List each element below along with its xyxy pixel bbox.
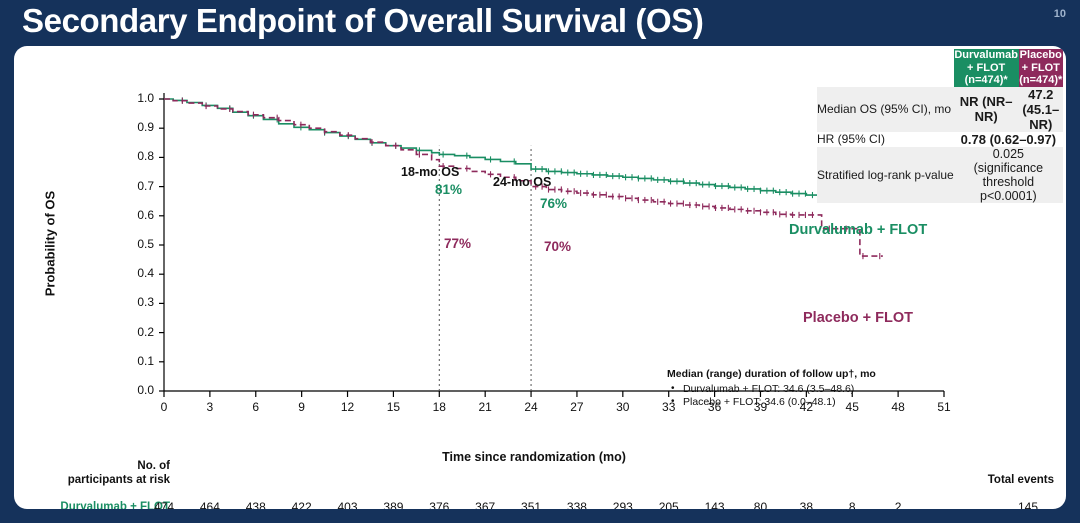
risk-count: 143	[695, 500, 735, 509]
list-item: Durvalumab + FLOT: 34.6 (3.5–48.6)	[681, 383, 1007, 397]
page-number: 10	[1054, 8, 1066, 20]
column-header-durvalumab: Durvalumab + FLOT (n=474)*	[954, 49, 1019, 87]
table-header-spacer	[817, 49, 954, 87]
risk-count: 438	[236, 500, 276, 509]
milestone-18mo-label: 18-mo OS	[401, 165, 459, 179]
risk-count: 293	[603, 500, 643, 509]
y-tick-label: 0.0	[120, 383, 154, 397]
y-tick-label: 0.2	[120, 325, 154, 339]
column-header-durvalumab-line1: Durvalumab + FLOT	[954, 49, 1018, 74]
risk-heading-line2: participants at risk	[68, 474, 170, 486]
x-tick-label: 24	[516, 400, 546, 414]
median-os-placebo: 47.2 (45.1–NR)	[1019, 87, 1063, 132]
table-header-row: Durvalumab + FLOT (n=474)* Placebo + FLO…	[817, 49, 1063, 87]
column-header-placebo-line1: Placebo + FLOT	[1020, 49, 1062, 74]
x-tick-label: 27	[562, 400, 592, 414]
y-tick-label: 0.4	[120, 266, 154, 280]
y-tick-label: 0.9	[120, 120, 154, 134]
y-tick-label: 0.5	[120, 237, 154, 251]
milestone-24mo-durvalumab-value: 76%	[540, 196, 567, 211]
x-tick-label: 39	[745, 400, 775, 414]
risk-count: 389	[373, 500, 413, 509]
y-axis-title: Probability of OS	[43, 164, 58, 324]
x-tick-label: 21	[470, 400, 500, 414]
y-tick-label: 0.1	[120, 354, 154, 368]
risk-count: 2	[878, 500, 918, 509]
risk-table-heading: No. of participants at risk	[22, 460, 170, 487]
slide-header: Secondary Endpoint of Overall Survival (…	[0, 0, 1080, 48]
content-card: Probability of OS Time since randomizati…	[14, 46, 1066, 509]
curve-label-durvalumab: Durvalumab + FLOT	[789, 222, 927, 238]
row-label-hr: HR (95% CI)	[817, 132, 954, 147]
hr-value: 0.78 (0.62–0.97)	[954, 132, 1063, 147]
milestone-24mo-placebo-value: 70%	[544, 239, 571, 254]
x-tick-label: 48	[883, 400, 913, 414]
curve-label-placebo: Placebo + FLOT	[803, 310, 913, 326]
x-tick-label: 30	[608, 400, 638, 414]
x-tick-label: 3	[195, 400, 225, 414]
table-row: Stratified log-rank p-value 0.025 (signi…	[817, 147, 1063, 203]
x-tick-label: 42	[791, 400, 821, 414]
column-header-durvalumab-line2: (n=474)*	[965, 74, 1008, 86]
followup-heading: Median (range) duration of follow up†, m…	[667, 368, 1007, 382]
logrank-threshold: (significance threshold p<0.0001)	[974, 161, 1043, 203]
risk-count: 80	[740, 500, 780, 509]
y-tick-label: 0.3	[120, 295, 154, 309]
y-tick-label: 1.0	[120, 91, 154, 105]
column-header-placebo: Placebo + FLOT (n=474)*	[1019, 49, 1063, 87]
x-tick-label: 45	[837, 400, 867, 414]
table-row: HR (95% CI) 0.78 (0.62–0.97)	[817, 132, 1063, 147]
os-results-table: Durvalumab + FLOT (n=474)* Placebo + FLO…	[817, 49, 1063, 203]
x-tick-label: 9	[287, 400, 317, 414]
logrank-pvalue: 0.025	[993, 147, 1024, 161]
risk-count: 367	[465, 500, 505, 509]
risk-count: 403	[328, 500, 368, 509]
risk-count: 351	[511, 500, 551, 509]
row-label-median-os: Median OS (95% CI), mo	[817, 87, 954, 132]
column-header-placebo-line2: (n=474)*	[1019, 74, 1062, 86]
x-tick-label: 0	[149, 400, 179, 414]
row-label-logrank: Stratified log-rank p-value	[817, 147, 954, 203]
x-tick-label: 12	[333, 400, 363, 414]
risk-count: 474	[144, 500, 184, 509]
x-tick-label: 15	[378, 400, 408, 414]
milestone-24mo-label: 24-mo OS	[493, 175, 551, 189]
risk-count: 376	[419, 500, 459, 509]
total-events-header: Total events	[988, 474, 1054, 486]
x-tick-label: 6	[241, 400, 271, 414]
risk-heading-line1: No. of	[137, 460, 170, 472]
participants-at-risk-table: No. of participants at risk Durvalumab +…	[14, 460, 1066, 509]
x-tick-label: 33	[654, 400, 684, 414]
milestone-18mo-placebo-value: 77%	[444, 236, 471, 251]
risk-count: 38	[786, 500, 826, 509]
page-title: Secondary Endpoint of Overall Survival (…	[22, 2, 703, 40]
logrank-value: 0.025 (significance threshold p<0.0001)	[954, 147, 1063, 203]
risk-count: 422	[282, 500, 322, 509]
x-tick-label: 51	[929, 400, 959, 414]
risk-count: 8	[832, 500, 872, 509]
risk-count: 338	[557, 500, 597, 509]
total-events-durvalumab: 145	[1008, 500, 1048, 509]
x-tick-label: 18	[424, 400, 454, 414]
table-row: Median OS (95% CI), mo NR (NR–NR) 47.2 (…	[817, 87, 1063, 132]
y-tick-label: 0.6	[120, 208, 154, 222]
risk-count: 205	[649, 500, 689, 509]
x-tick-label: 36	[700, 400, 730, 414]
risk-count: 464	[190, 500, 230, 509]
milestone-18mo-durvalumab-value: 81%	[435, 182, 462, 197]
y-tick-label: 0.7	[120, 179, 154, 193]
median-os-durvalumab: NR (NR–NR)	[954, 87, 1019, 132]
y-tick-label: 0.8	[120, 149, 154, 163]
